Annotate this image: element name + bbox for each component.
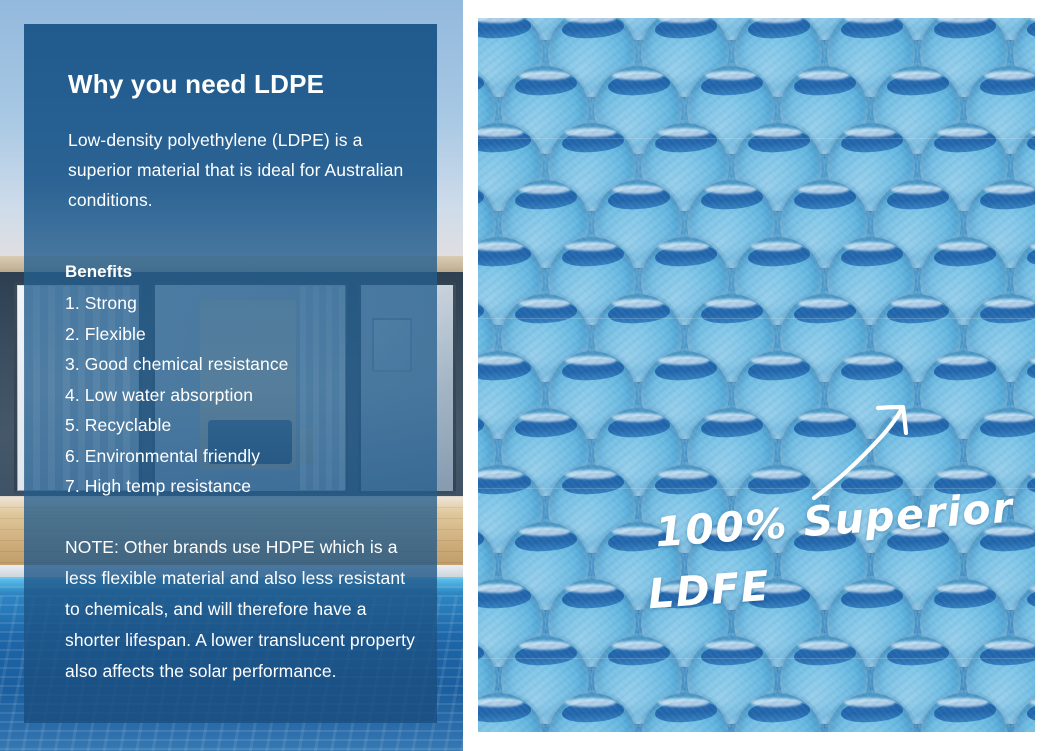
bubble-sheet-seam: [478, 138, 1035, 139]
intro-paragraph: Low-density polyethylene (LDPE) is a sup…: [68, 125, 415, 215]
list-item: 3. Good chemical resistance: [65, 349, 415, 380]
list-item: 7. High temp resistance: [65, 471, 415, 502]
page-title: Why you need LDPE: [68, 69, 415, 100]
bubble-sheet-seam: [478, 318, 1035, 319]
bubble-wrap-image: 100% Superior LDFE: [478, 18, 1035, 732]
benefits-heading: Benefits: [65, 259, 415, 285]
list-item: 5. Recyclable: [65, 410, 415, 441]
list-item: 4. Low water absorption: [65, 380, 415, 411]
bubble-sheet-seam: [478, 658, 1035, 659]
benefits-list: 1. Strong 2. Flexible 3. Good chemical r…: [65, 288, 415, 502]
bubble-sheet-seam: [478, 488, 1035, 489]
list-item: 2. Flexible: [65, 319, 415, 350]
note-paragraph: NOTE: Other brands use HDPE which is a l…: [65, 532, 415, 687]
list-item: 6. Environmental friendly: [65, 441, 415, 472]
list-item: 1. Strong: [65, 288, 415, 319]
bubble-grid: [478, 18, 1035, 732]
ldpe-info-panel: Why you need LDPE Low-density polyethyle…: [24, 24, 437, 723]
